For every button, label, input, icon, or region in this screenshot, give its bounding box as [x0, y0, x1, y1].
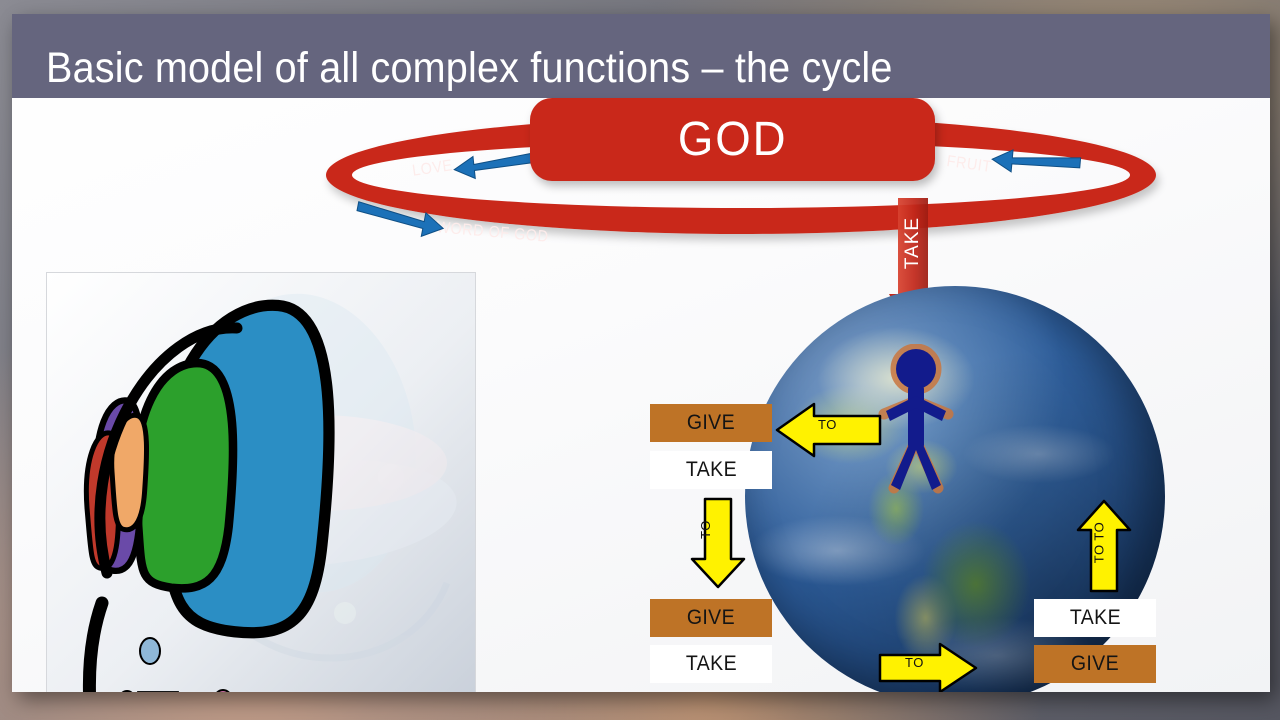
to-arrow-up-label: TO TO — [1091, 522, 1106, 564]
abstract-illustration — [46, 272, 476, 692]
take-box-bottom-left-label: TAKE — [685, 652, 736, 676]
nested-loops-graphic — [47, 273, 476, 692]
give-box-top-left-label: GIVE — [687, 411, 735, 435]
to-arrow-down-icon — [690, 497, 746, 589]
person-figure — [878, 344, 954, 494]
give-box-bottom-left: GIVE — [650, 599, 772, 637]
to-arrow-right-icon — [878, 642, 978, 692]
god-label: GOD — [678, 112, 788, 167]
take-box-top-left: TAKE — [650, 451, 772, 489]
to-arrow-right-label: TO — [905, 655, 924, 670]
god-box: GOD — [530, 98, 935, 181]
take-box-bottom-right: TAKE — [1034, 599, 1156, 637]
give-box-top-left: GIVE — [650, 404, 772, 442]
take-arrow-label: TAKE — [902, 205, 924, 281]
take-box-bottom-right-label: TAKE — [1069, 606, 1120, 630]
give-box-bottom-right: GIVE — [1034, 645, 1156, 683]
take-box-top-left-label: TAKE — [685, 458, 736, 482]
take-box-bottom-left: TAKE — [650, 645, 772, 683]
to-arrow-down-label: TO — [698, 520, 713, 539]
page-title: Basic model of all complex functions – t… — [46, 44, 893, 93]
to-arrow-left-label: TO — [818, 417, 837, 432]
presentation-slide: Basic model of all complex functions – t… — [12, 14, 1270, 692]
give-box-bottom-right-label: GIVE — [1071, 652, 1119, 676]
cycle-diagram: LOVE WORD OF GOD FRUIT GOD — [312, 102, 1172, 262]
give-box-bottom-left-label: GIVE — [687, 606, 735, 630]
